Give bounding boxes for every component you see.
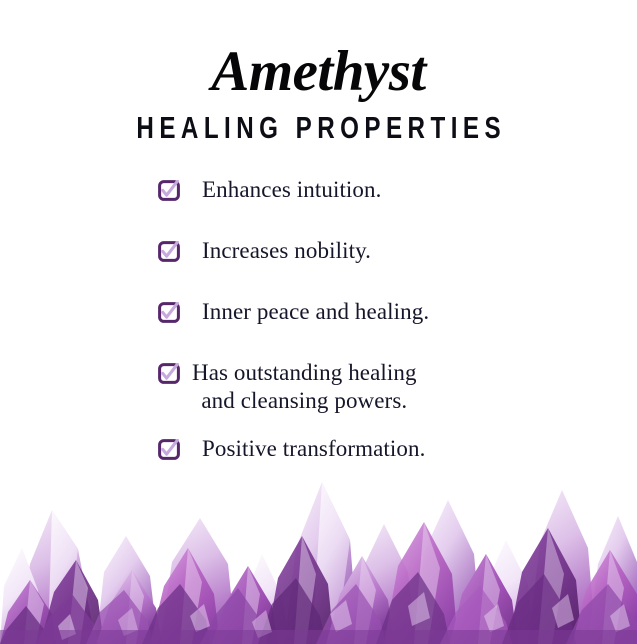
list-item-label: Increases nobility.: [202, 237, 371, 264]
amethyst-crystal-cluster-photo: [0, 444, 637, 644]
list-item: Enhances intuition.: [0, 176, 637, 203]
list-item-label: Enhances intuition.: [202, 176, 381, 203]
list-item: Inner peace and healing.: [0, 298, 637, 325]
checked-checkbox-icon: [158, 363, 180, 384]
checked-checkbox-icon: [158, 180, 180, 201]
healing-properties-list: Enhances intuition. Increases nobility. …: [0, 176, 637, 462]
list-item: Has outstanding healing and cleansing po…: [0, 359, 637, 415]
poster-header: Amethyst HEALING PROPERTIES: [0, 0, 637, 143]
checked-checkbox-icon: [158, 302, 180, 323]
poster-canvas: Amethyst HEALING PROPERTIES Enhances int…: [0, 0, 637, 644]
list-item: Increases nobility.: [0, 237, 637, 264]
page-title: Amethyst: [0, 42, 637, 102]
checked-checkbox-icon: [158, 241, 180, 262]
list-item-label: Has outstanding healing and cleansing po…: [192, 359, 417, 415]
list-item-label: Inner peace and healing.: [202, 298, 429, 325]
page-subtitle: HEALING PROPERTIES: [70, 112, 567, 143]
